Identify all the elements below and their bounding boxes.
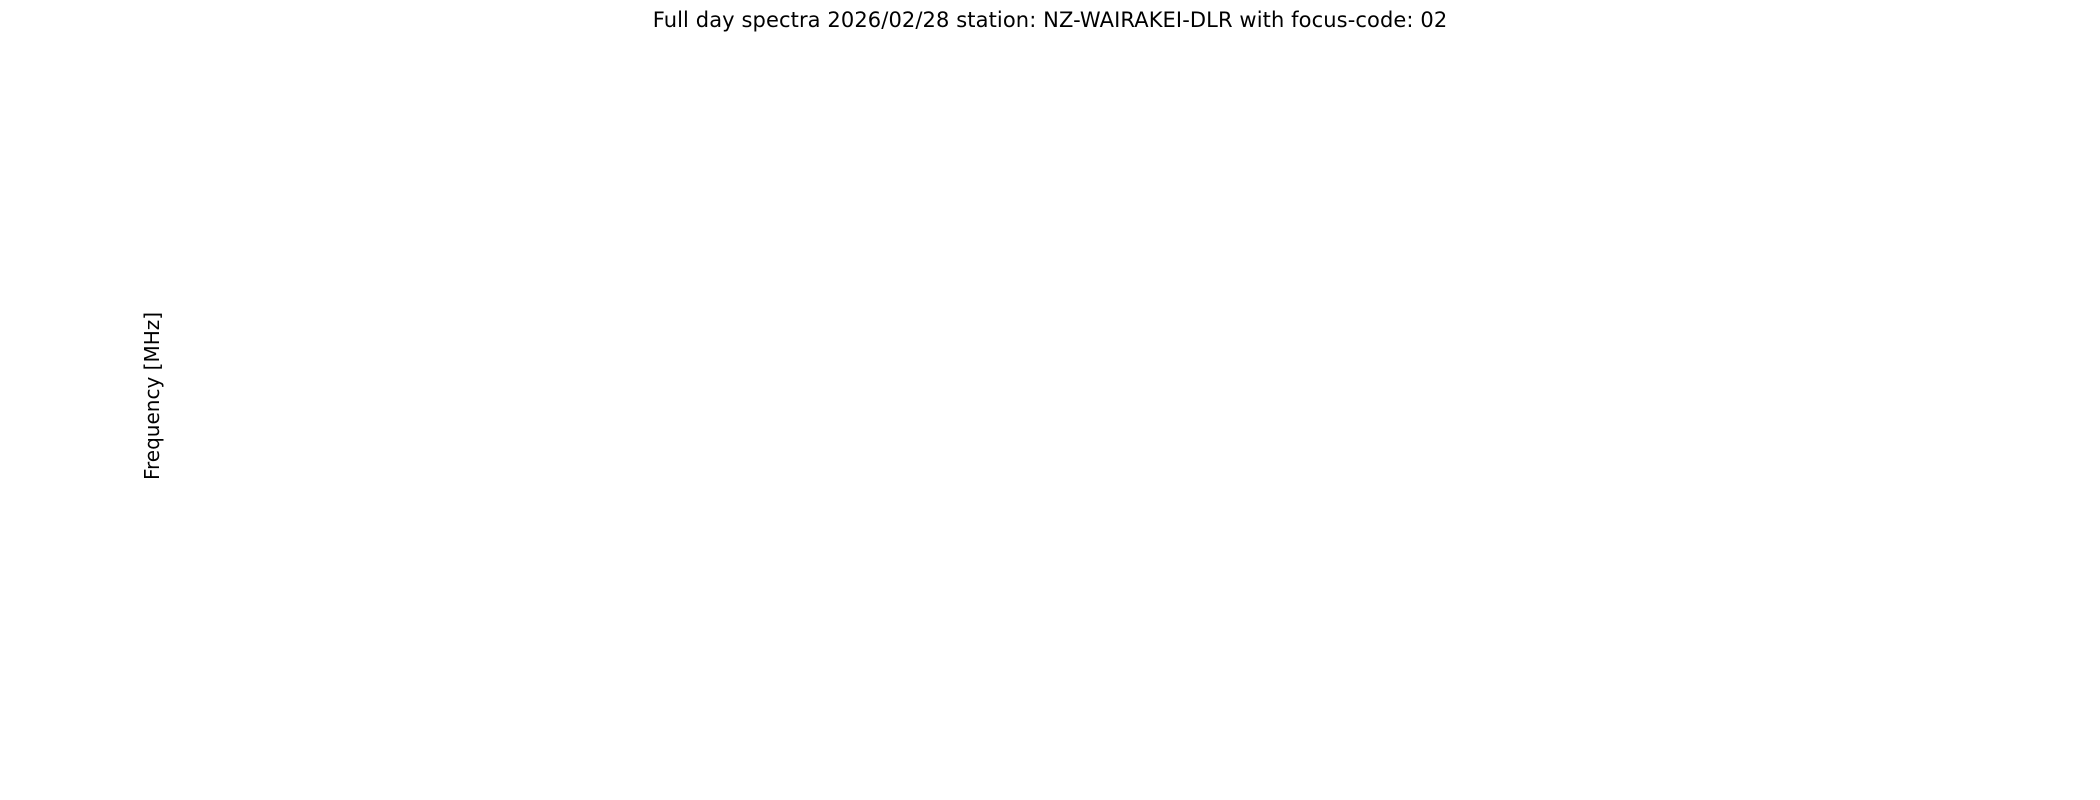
figure-title: Full day spectra 2026/02/28 station: NZ-… bbox=[0, 8, 2100, 32]
y-axis-title: Frequency [MHz] bbox=[140, 312, 164, 480]
figure-canvas: Full day spectra 2026/02/28 station: NZ-… bbox=[0, 0, 2100, 800]
x-axis bbox=[265, 709, 1898, 739]
subplot-grid bbox=[265, 86, 1898, 707]
